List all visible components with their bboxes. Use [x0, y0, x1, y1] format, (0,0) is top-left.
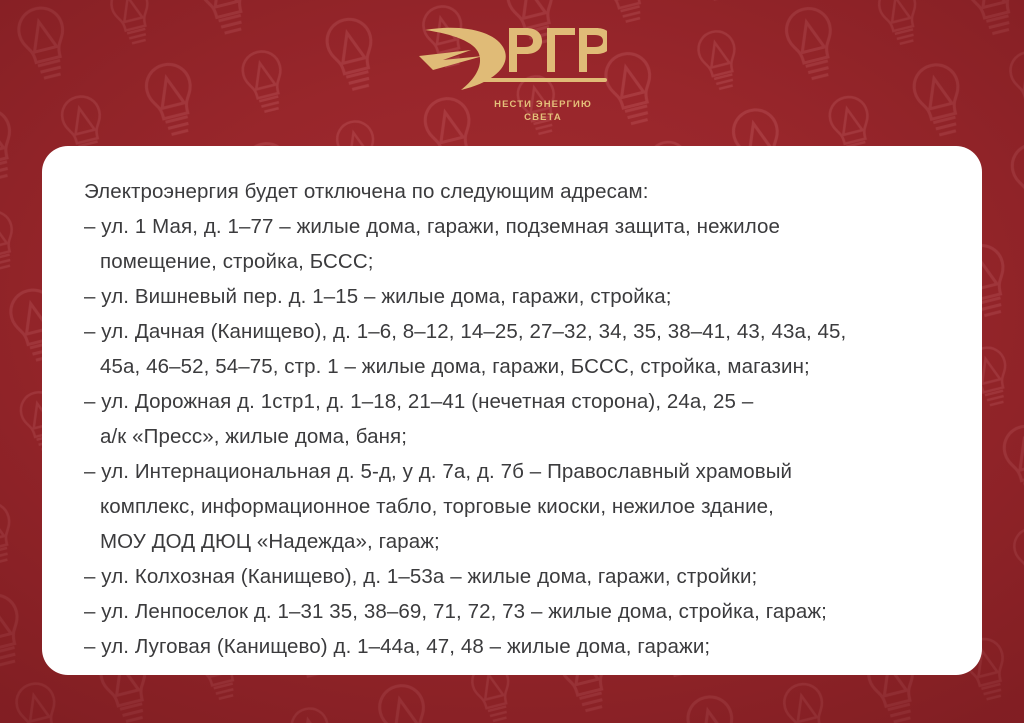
announcement-card: Электроэнергия будет отключена по следую… [42, 146, 982, 675]
logo-tagline-line1: НЕСТИ ЭНЕРГИЮ [494, 99, 592, 110]
address-list: – ул. 1 Мая, д. 1–77 – жилые дома, гараж… [84, 209, 948, 664]
list-item: – ул. Ленпоселок д. 1–31 35, 38–69, 71, … [84, 594, 948, 629]
address-line-cont: помещение, стройка, БСCC; [100, 244, 948, 279]
list-item: – ул. Вишневый пер. д. 1–15 – жилые дома… [84, 279, 948, 314]
address-line-cont: МОУ ДОД ДЮЦ «Надежда», гараж; [100, 524, 948, 559]
logo-tagline: НЕСТИ ЭНЕРГИЮ СВЕТА [494, 98, 592, 124]
list-item: – ул. Луговая (Канищево) д. 1–44а, 47, 4… [84, 629, 948, 664]
list-item: – ул. Интернациональная д. 5-д, у д. 7а,… [84, 454, 948, 559]
address-line: – ул. Интернациональная д. 5-д, у д. 7а,… [84, 460, 792, 483]
logo-tagline-line2: СВЕТА [524, 112, 562, 123]
address-line: – ул. Вишневый пер. д. 1–15 – жилые дома… [84, 285, 672, 308]
company-logo: НЕСТИ ЭНЕРГИЮ СВЕТА [0, 20, 1024, 124]
address-line-cont: комплекс, информационное табло, торговые… [100, 489, 948, 524]
address-line: – ул. Дачная (Канищево), д. 1–6, 8–12, 1… [84, 320, 846, 343]
address-line-cont: 45а, 46–52, 54–75, стр. 1 – жилые дома, … [100, 349, 948, 384]
address-line: – ул. Ленпоселок д. 1–31 35, 38–69, 71, … [84, 600, 827, 623]
card-headline: Электроэнергия будет отключена по следую… [84, 174, 948, 209]
address-line: – ул. Дорожная д. 1стр1, д. 1–18, 21–41 … [84, 390, 753, 413]
list-item: – ул. Дачная (Канищево), д. 1–6, 8–12, 1… [84, 314, 948, 384]
poster-root: НЕСТИ ЭНЕРГИЮ СВЕТА Электроэнергия будет… [0, 0, 1024, 723]
address-line: – ул. 1 Мая, д. 1–77 – жилые дома, гараж… [84, 215, 780, 238]
list-item: – ул. 1 Мая, д. 1–77 – жилые дома, гараж… [84, 209, 948, 279]
address-line: – ул. Луговая (Канищево) д. 1–44а, 47, 4… [84, 635, 710, 658]
list-item: – ул. Колхозная (Канищево), д. 1–53а – ж… [84, 559, 948, 594]
list-item: – ул. Дорожная д. 1стр1, д. 1–18, 21–41 … [84, 384, 948, 454]
erges-logo-mark [417, 20, 607, 96]
address-line-cont: а/к «Пресс», жилые дома, баня; [100, 419, 948, 454]
address-line: – ул. Колхозная (Канищево), д. 1–53а – ж… [84, 565, 757, 588]
